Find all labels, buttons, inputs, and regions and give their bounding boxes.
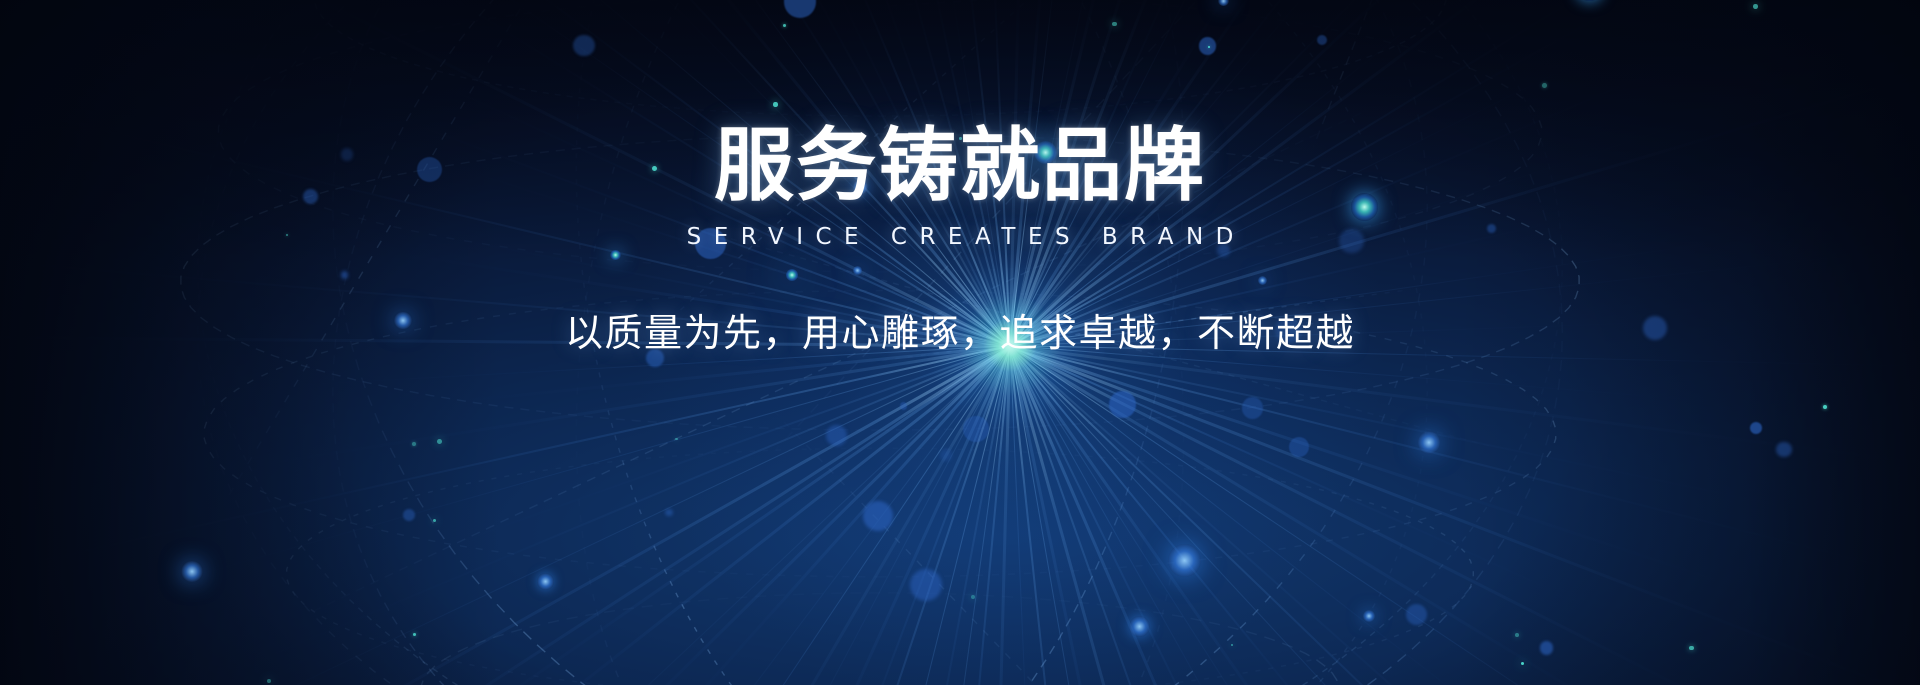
banner-headline: 服务铸就品牌 — [714, 126, 1206, 206]
banner-subheadline: SERVICE CREATES BRAND — [674, 224, 1246, 250]
hero-banner: 服务铸就品牌 SERVICE CREATES BRAND 以质量为先，用心雕琢，… — [0, 0, 1920, 685]
banner-content: 服务铸就品牌 SERVICE CREATES BRAND 以质量为先，用心雕琢，… — [0, 0, 1920, 685]
banner-tagline: 以质量为先，用心雕琢，追求卓越，不断超越 — [565, 302, 1355, 357]
